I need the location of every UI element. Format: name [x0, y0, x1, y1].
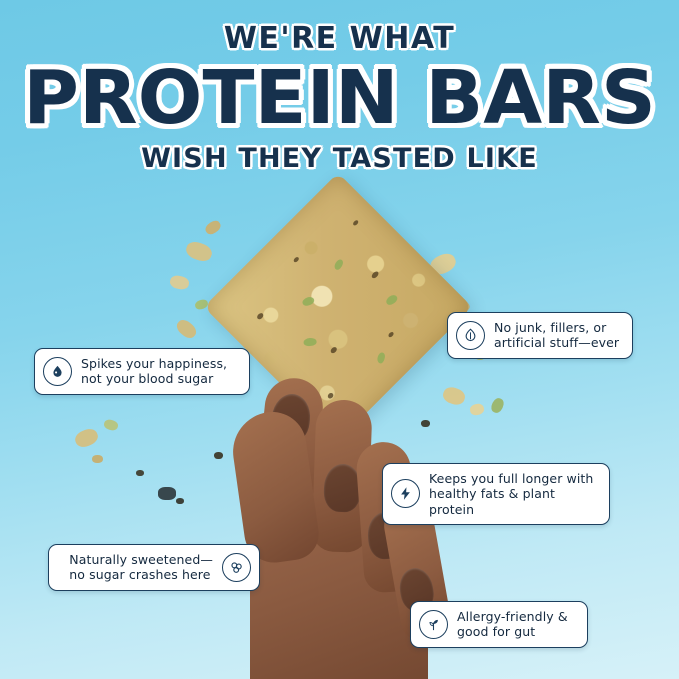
leaf-drop-icon — [456, 321, 485, 350]
headline-line-2: PROTEIN BARS — [0, 62, 679, 135]
berries-icon — [222, 553, 251, 582]
callout-allergy-friendly: Allergy-friendly & good for gut — [410, 601, 588, 648]
headline-line-3: WISH THEY TASTED LIKE — [0, 145, 679, 172]
droplet-icon — [43, 357, 72, 386]
sprout-icon — [419, 610, 448, 639]
callout-spikes-happiness-text: Spikes your happiness, not your blood su… — [81, 356, 227, 387]
callout-keeps-you-full: Keeps you full longer with healthy fats … — [382, 463, 610, 525]
callout-no-junk: No junk, fillers, or artificial stuff—ev… — [447, 312, 633, 359]
lightning-bolt-icon — [391, 479, 420, 508]
callout-no-junk-text: No junk, fillers, or artificial stuff—ev… — [494, 320, 619, 351]
callout-keeps-you-full-text: Keeps you full longer with healthy fats … — [429, 471, 598, 517]
callout-naturally-sweetened: Naturally sweetened— no sugar crashes he… — [48, 544, 260, 591]
headline-block: WE'RE WHAT PROTEIN BARS WISH THEY TASTED… — [0, 24, 679, 172]
product-infographic: WE'RE WHAT PROTEIN BARS WISH THEY TASTED… — [0, 0, 679, 679]
headline-line-1: WE'RE WHAT — [0, 24, 679, 54]
callout-spikes-happiness: Spikes your happiness, not your blood su… — [34, 348, 250, 395]
callout-allergy-friendly-text: Allergy-friendly & good for gut — [457, 609, 568, 640]
callout-naturally-sweetened-text: Naturally sweetened— no sugar crashes he… — [69, 552, 213, 583]
